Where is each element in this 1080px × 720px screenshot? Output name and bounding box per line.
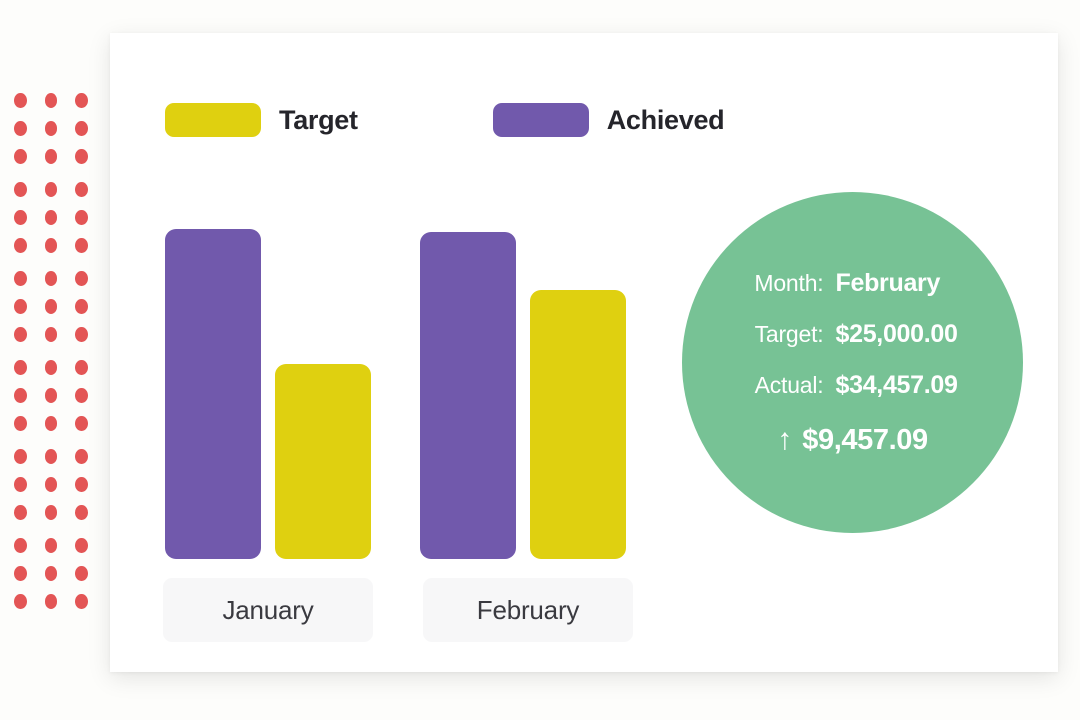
dot <box>75 271 88 286</box>
dot-row <box>14 594 88 609</box>
dot <box>75 449 88 464</box>
dot <box>75 566 88 581</box>
summary-row-actual: Actual: $34,457.09 <box>730 371 976 400</box>
dot-row <box>14 416 88 431</box>
dot <box>75 538 88 553</box>
summary-delta-amount: $9,457.09 <box>802 424 927 457</box>
dot <box>45 449 58 464</box>
dot <box>45 299 58 314</box>
dot <box>45 538 58 553</box>
legend-swatch-achieved-icon <box>493 103 589 137</box>
dot-row <box>14 538 88 553</box>
legend-entry-achieved[interactable]: Achieved <box>493 103 725 137</box>
dot <box>45 210 58 225</box>
dot-row <box>14 327 88 342</box>
legend-entry-target[interactable]: Target <box>165 103 358 137</box>
dot-row <box>14 182 88 197</box>
dot <box>14 182 27 197</box>
dot <box>75 93 88 108</box>
summary-delta: ↑ $9,457.09 <box>777 424 927 457</box>
dot <box>14 299 27 314</box>
dot <box>75 327 88 342</box>
bar-plot: January February <box>165 150 685 642</box>
dot <box>14 477 27 492</box>
dot <box>14 121 27 136</box>
dot <box>14 505 27 520</box>
decorative-dot-grid <box>14 93 88 609</box>
dot <box>45 327 58 342</box>
chart-legend: Target Achieved <box>165 103 724 137</box>
bar-february-achieved[interactable] <box>420 232 516 559</box>
dot-row <box>14 566 88 581</box>
dot-group <box>14 449 88 520</box>
summary-key-actual: Actual: <box>730 372 824 399</box>
dot <box>75 505 88 520</box>
dot <box>75 594 88 609</box>
dot-group <box>14 93 88 164</box>
dot <box>75 182 88 197</box>
summary-key-target: Target: <box>730 321 824 348</box>
dot <box>75 121 88 136</box>
dot <box>45 93 58 108</box>
dot <box>45 416 58 431</box>
chart-card: Target Achieved January February Month: … <box>110 33 1058 672</box>
dot <box>75 388 88 403</box>
bar-january-achieved[interactable] <box>165 229 261 559</box>
summary-row-month: Month: February <box>730 269 976 298</box>
dot-row <box>14 93 88 108</box>
dot <box>14 388 27 403</box>
legend-label-target: Target <box>279 105 358 136</box>
dot-row <box>14 449 88 464</box>
summary-value-actual: $34,457.09 <box>836 371 958 400</box>
dot-group <box>14 182 88 253</box>
dot <box>75 210 88 225</box>
dot <box>75 238 88 253</box>
dot-row <box>14 238 88 253</box>
dot <box>14 449 27 464</box>
dot <box>14 149 27 164</box>
dot <box>14 327 27 342</box>
bar-february-target[interactable] <box>530 290 626 559</box>
dot <box>45 566 58 581</box>
dot <box>75 477 88 492</box>
up-arrow-icon: ↑ <box>777 425 792 455</box>
dot-group <box>14 271 88 342</box>
dot <box>14 271 27 286</box>
dot <box>45 477 58 492</box>
dot <box>45 238 58 253</box>
dot-group <box>14 538 88 609</box>
legend-label-achieved: Achieved <box>607 105 725 136</box>
dot <box>14 210 27 225</box>
bar-january-target[interactable] <box>275 364 371 559</box>
dot <box>75 360 88 375</box>
dot <box>14 538 27 553</box>
dot-row <box>14 149 88 164</box>
summary-value-month: February <box>836 269 941 298</box>
dot <box>45 271 58 286</box>
dot <box>14 238 27 253</box>
dot <box>14 93 27 108</box>
dot-row <box>14 210 88 225</box>
summary-key-month: Month: <box>730 270 824 297</box>
dot-row <box>14 271 88 286</box>
dot-row <box>14 360 88 375</box>
summary-row-target: Target: $25,000.00 <box>730 320 976 349</box>
dot <box>45 149 58 164</box>
summary-circle: Month: February Target: $25,000.00 Actua… <box>682 192 1023 533</box>
dot <box>75 299 88 314</box>
dot-row <box>14 477 88 492</box>
dot <box>14 360 27 375</box>
dot <box>75 416 88 431</box>
dot-row <box>14 505 88 520</box>
dot <box>45 360 58 375</box>
dot <box>14 594 27 609</box>
dot <box>45 388 58 403</box>
dot-row <box>14 299 88 314</box>
dot <box>75 149 88 164</box>
dot-row <box>14 388 88 403</box>
dot <box>45 182 58 197</box>
dot <box>45 121 58 136</box>
dot <box>14 566 27 581</box>
dot <box>14 416 27 431</box>
month-label-february[interactable]: February <box>423 578 633 642</box>
dot <box>45 594 58 609</box>
month-label-january[interactable]: January <box>163 578 373 642</box>
dot-group <box>14 360 88 431</box>
summary-value-target: $25,000.00 <box>836 320 958 349</box>
dot <box>45 505 58 520</box>
dot-row <box>14 121 88 136</box>
legend-swatch-target-icon <box>165 103 261 137</box>
